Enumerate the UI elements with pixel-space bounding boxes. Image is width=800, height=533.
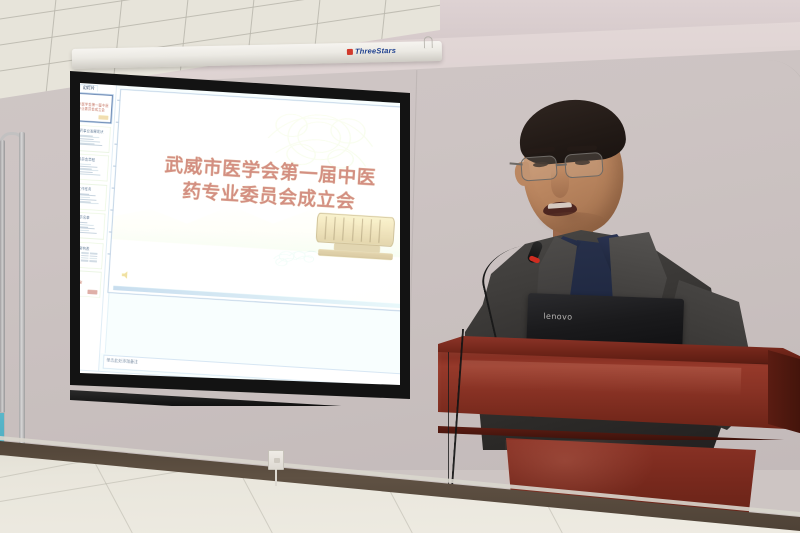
thumbnail-artwork	[87, 290, 97, 295]
redo-icon[interactable]	[174, 67, 181, 71]
arrow-shape-icon[interactable]	[103, 374, 111, 380]
italic-button[interactable]: I	[131, 71, 138, 78]
wall-outlet	[268, 450, 284, 470]
thumbnail-body-lines	[70, 163, 105, 177]
ruler-tick: -3	[127, 80, 130, 85]
thumbnail-body-lines	[70, 221, 101, 235]
ruler-tick: -6	[71, 77, 74, 82]
screen-brand-label: ThreeStars	[347, 46, 396, 56]
microphone-cable-secondary	[448, 352, 474, 527]
neck	[553, 208, 593, 250]
bullets-icon[interactable]	[186, 74, 193, 81]
thumbnail-title: 武威市医学会第一届中医药专业委员会成立会	[70, 102, 111, 113]
brand-logo-mark	[347, 49, 353, 55]
eyebrow-right	[567, 145, 597, 152]
insert-table-icon[interactable]	[183, 67, 190, 71]
scroll-stand-foot	[317, 249, 392, 260]
3d-style-icon[interactable]	[180, 379, 187, 386]
toolbar-separator	[181, 74, 183, 81]
outlet-conduit	[275, 469, 277, 486]
slide-thumbnail-3[interactable]: 3委员会章程	[70, 153, 109, 182]
current-slide[interactable]: 武威市医学会第一届中医 药专业委员会成立会	[107, 89, 410, 313]
slide-thumbnail-6[interactable]: 6组织架构表	[70, 240, 104, 269]
eyeglasses	[518, 150, 628, 183]
slide-title-text: 武威市医学会第一届中医 药专业委员会成立会	[114, 151, 410, 220]
thumbnail-body-lines	[70, 134, 106, 148]
slide-accent-bar	[113, 286, 410, 309]
podium-lower-lip	[438, 426, 800, 440]
microphone-indicator-ring	[528, 255, 540, 264]
floor	[0, 425, 800, 533]
ruler-tick: -1	[164, 83, 167, 88]
toolbar-separator	[210, 67, 212, 72]
ruler-tick: 4	[258, 89, 260, 94]
shadow-style-icon[interactable]	[171, 378, 178, 385]
thumbnail-body-lines	[70, 192, 103, 206]
podium-right-side	[768, 350, 800, 440]
oval-shape-icon[interactable]	[122, 375, 129, 381]
windows-taskbar[interactable]: 开始 武威市医学会... 文档 15:42	[70, 387, 410, 399]
ruler-tick: 3	[239, 87, 241, 92]
slide-thumbnail-1[interactable]: 1武威市医学会第一届中医药专业委员会成立会	[70, 92, 113, 123]
lens-left	[520, 155, 558, 181]
ruler-tick: 7	[314, 92, 316, 97]
stand-post-right	[19, 132, 25, 462]
align-left-icon[interactable]	[154, 72, 161, 79]
conference-room-photo: ThreeStars Microsoft PowerPoint - [武威市医学…	[0, 0, 800, 533]
new-slide-icon[interactable]	[232, 67, 239, 74]
bold-button[interactable]: B	[122, 70, 129, 77]
hyperlink-icon[interactable]	[201, 67, 208, 72]
microphone-cable	[448, 329, 502, 531]
bamboo-slips	[316, 212, 395, 247]
thumbnail-title: 人员名单	[75, 216, 91, 221]
thumbnail-title: 中医药事业发展现状	[72, 128, 105, 134]
scroll-stand-post	[333, 243, 380, 253]
eyebrow-left	[525, 146, 555, 154]
insert-chart-icon[interactable]	[192, 67, 199, 72]
stand-panel	[0, 412, 5, 533]
powerpoint-icon	[81, 395, 87, 399]
powerpoint-window[interactable]: Microsoft PowerPoint - [武威市医学会中医药专业委员会] …	[70, 67, 410, 399]
thumbnail-title: 委员会章程	[77, 158, 96, 163]
head	[518, 104, 629, 238]
eye-right	[575, 160, 590, 166]
projection-screen-frame: Microsoft PowerPoint - [武威市医学会中医药专业委员会] …	[70, 67, 410, 399]
taskbar-item-label: 文档	[134, 398, 143, 399]
baseboard	[0, 425, 800, 533]
line-color-icon[interactable]	[154, 377, 161, 384]
ppt-menu-bar[interactable]: 文件(F)编辑(E)视图(V)插入(I)格式(O)工具(T)幻灯片放映(D)窗口…	[70, 67, 410, 79]
slide-thumbnail-4[interactable]: 4工作任务	[70, 182, 107, 211]
hair	[516, 95, 627, 166]
start-button[interactable]: 开始	[70, 389, 75, 399]
glasses-temple	[510, 162, 523, 165]
help-icon[interactable]	[250, 68, 257, 75]
cable-trunking	[0, 425, 800, 533]
projection-screen-housing: ThreeStars	[72, 41, 442, 69]
pane-tab-0[interactable]: 大纲	[70, 83, 79, 90]
display-stand	[2, 132, 32, 472]
microphone-head	[526, 240, 544, 264]
collar-left	[553, 236, 581, 272]
taskbar-item-label: 武威市医学会...	[88, 395, 117, 399]
floor-cable-right	[780, 360, 800, 530]
ruler-tick: 6	[295, 91, 297, 96]
ruler-tick: 2	[220, 86, 222, 91]
ear	[514, 161, 531, 186]
taskbar-item[interactable]: 武威市医学会...	[77, 391, 121, 399]
undo-icon[interactable]	[165, 67, 172, 70]
format-painter-icon[interactable]	[151, 67, 158, 69]
podium-lectern	[438, 330, 800, 533]
laptop-lid-edge	[526, 352, 682, 361]
screen-hook	[424, 36, 433, 48]
rectangle-shape-icon[interactable]	[113, 375, 120, 381]
glasses-bridge	[556, 163, 567, 165]
ruler-tick: 8	[332, 93, 334, 98]
status-slide-counter: 幻灯片 1 / 10	[70, 380, 74, 388]
ppt-work-area: 大纲幻灯片 1武威市医学会第一届中医药专业委员会成立会2中医药事业发展现状3委员…	[70, 82, 410, 391]
font-color-icon[interactable]	[162, 377, 169, 384]
projection-screen-surface[interactable]: Microsoft PowerPoint - [武威市医学会中医药专业委员会] …	[70, 67, 410, 399]
taskbar-item[interactable]: 文档	[123, 394, 159, 399]
notes-pane[interactable]: 单击此处添加备注	[103, 354, 410, 388]
podium-front-panel	[438, 352, 800, 432]
ruler-tick: 5	[276, 90, 278, 95]
numbering-icon[interactable]	[194, 75, 201, 82]
mouth	[543, 201, 578, 217]
slide-artwork-bamboo-scroll	[267, 205, 401, 286]
underline-button[interactable]: U	[140, 71, 147, 78]
podium-column	[506, 438, 756, 533]
slide-thumbnail-7[interactable]: 7谢谢	[70, 269, 102, 298]
fill-color-icon[interactable]	[145, 376, 152, 383]
slide-editing-area[interactable]: 武威市医学会第一届中医 药专业委员会成立会	[99, 85, 410, 390]
autoshapes-label[interactable]: 自选图形(U)	[70, 371, 90, 379]
eye-left	[533, 161, 548, 167]
align-right-icon[interactable]	[171, 73, 178, 80]
status-design-template: 设计模板	[223, 391, 241, 399]
thumbnail-title: 谢谢	[74, 281, 83, 286]
ruler-tick: 1	[202, 85, 204, 90]
font-size-box[interactable]: 18	[106, 69, 121, 76]
thumbnail-title: 工作任务	[77, 187, 93, 192]
nose	[551, 170, 569, 198]
lens-right	[564, 152, 604, 179]
thumbnail-table	[70, 251, 98, 262]
line-shape-icon[interactable]	[94, 376, 101, 378]
laptop-brand-label: lenovo	[543, 312, 572, 322]
textbox-shape-icon[interactable]	[130, 376, 137, 382]
stand-post-left	[0, 140, 5, 462]
toolbar-separator	[149, 72, 151, 79]
ruler-tick: -5	[90, 78, 93, 83]
ruler-tick: -2	[146, 82, 149, 87]
show-formatting-icon[interactable]	[224, 67, 231, 74]
chin-shadow	[535, 212, 609, 236]
slide-design-icon[interactable]	[241, 68, 248, 75]
wall-cable-secondary	[748, 60, 800, 300]
thumbnail-artwork	[98, 115, 108, 120]
laptop[interactable]: lenovo	[526, 293, 684, 361]
align-center-icon[interactable]	[163, 73, 170, 80]
slide-thumbnail-5[interactable]: 5人员名单	[70, 211, 106, 240]
ruler-tick: 9	[351, 95, 353, 100]
toolbar-separator	[140, 376, 142, 383]
ruler-tick: -4	[108, 79, 111, 84]
ruler-tick: 0	[183, 84, 185, 89]
collar-right	[597, 234, 627, 272]
slide-thumbnail-2[interactable]: 2中医药事业发展现状	[70, 123, 111, 152]
cloud-motif	[270, 231, 352, 274]
expand-icon[interactable]	[215, 67, 222, 73]
podium-highlight	[505, 440, 655, 510]
document-icon	[127, 398, 133, 399]
stand-top-bend	[0, 132, 25, 154]
brand-text: ThreeStars	[355, 46, 396, 56]
toolbar-separator	[161, 67, 163, 69]
sound-icon	[122, 271, 130, 279]
